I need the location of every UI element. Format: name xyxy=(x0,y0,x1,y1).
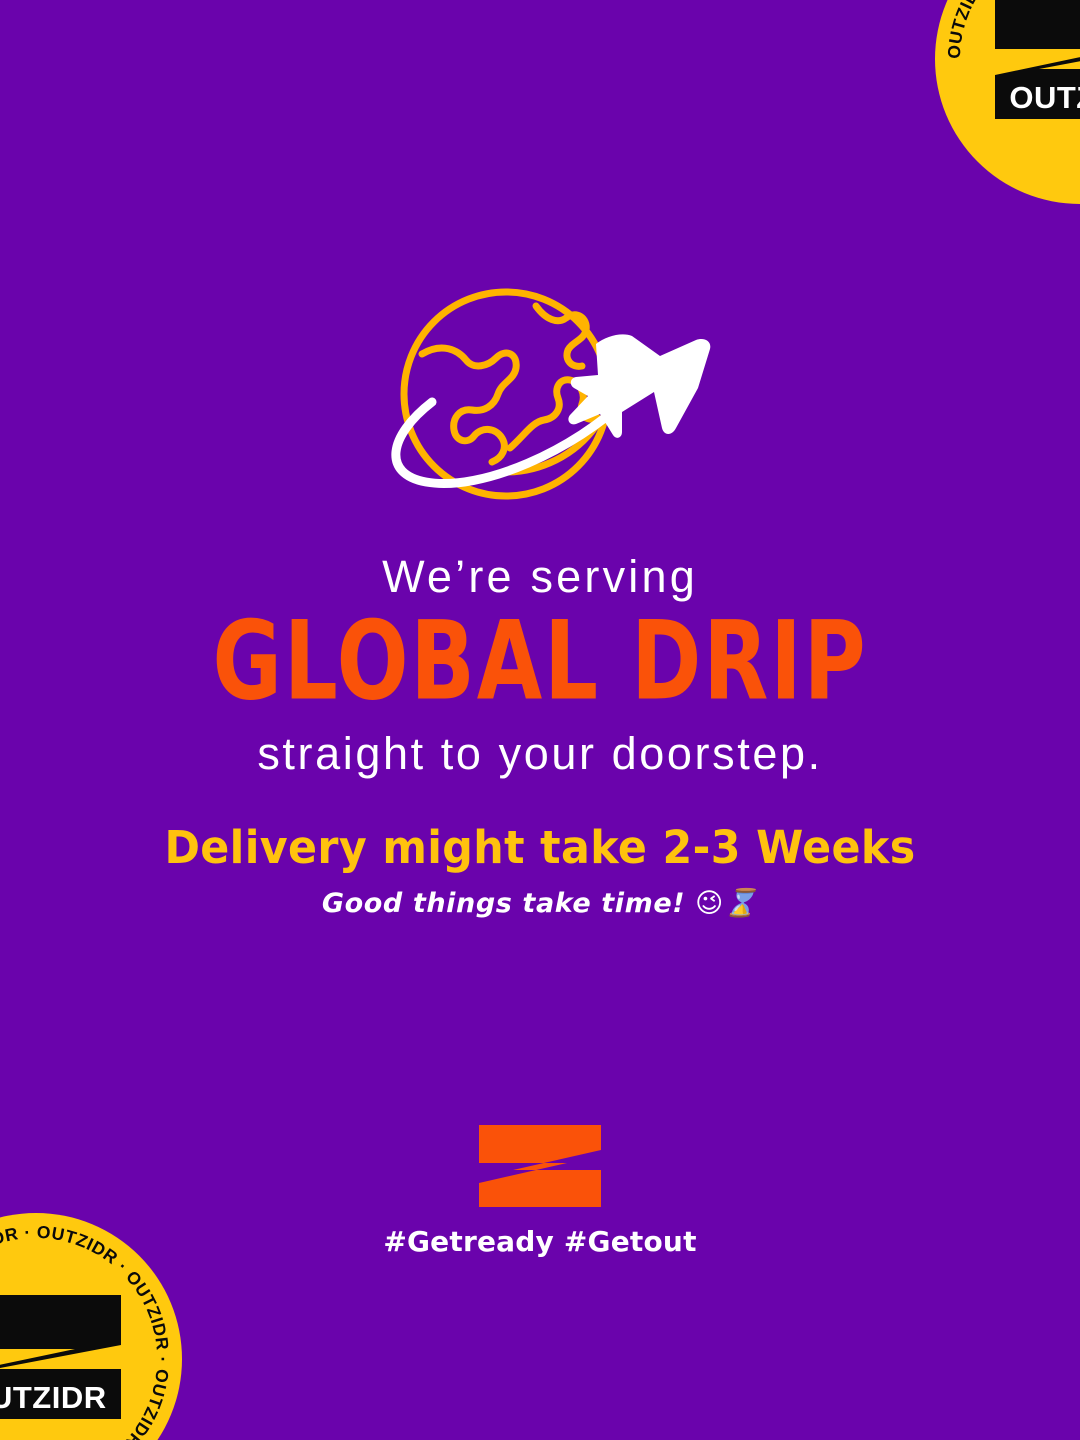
delivery-notice-sub: Good things take time! 😉⌛ xyxy=(0,888,1080,920)
poster-canvas: OUTZIDR · OUTZIDR · OUTZIDR · OUTZIDR · … xyxy=(0,0,1080,1440)
continent-west-icon xyxy=(422,348,516,462)
delivery-notice-block: Delivery might take 2-3 Weeks Good thing… xyxy=(0,822,1080,921)
badge-wordmark: OUTZIDR xyxy=(0,1380,107,1415)
badge-core-logo-bottom-left: OUTZIDR xyxy=(0,1291,129,1427)
globe-sphere-icon xyxy=(404,292,608,496)
footer-hashtags: #Getready #Getout xyxy=(0,1225,1080,1258)
badge-wordmark: OUTZIDR xyxy=(1009,80,1080,115)
footer-block: #Getready #Getout xyxy=(0,1125,1080,1258)
badge-z-mark: OUTZIDR xyxy=(0,1291,129,1427)
brand-z-logo xyxy=(479,1125,601,1207)
badge-core-logo-top-right: OUTZIDR xyxy=(987,0,1080,127)
headline-kicker: We’re serving xyxy=(0,552,1080,602)
continent-north-icon xyxy=(536,306,586,366)
globe-airplane-illustration xyxy=(360,276,720,516)
delivery-notice-main: Delivery might take 2-3 Weeks xyxy=(27,822,1053,874)
badge-z-mark: OUTZIDR xyxy=(987,0,1080,127)
headline-feature: GLOBAL DRIP xyxy=(43,606,1037,720)
globe-icon xyxy=(360,276,720,516)
z-logo-shape xyxy=(479,1125,601,1207)
brand-badge-top-right: OUTZIDR · OUTZIDR · OUTZIDR · OUTZIDR · … xyxy=(935,0,1080,204)
headline-subline: straight to your doorstep. xyxy=(0,729,1080,779)
headline-block: We’re serving GLOBAL DRIP straight to yo… xyxy=(0,552,1080,779)
z-logo-icon xyxy=(479,1125,601,1207)
